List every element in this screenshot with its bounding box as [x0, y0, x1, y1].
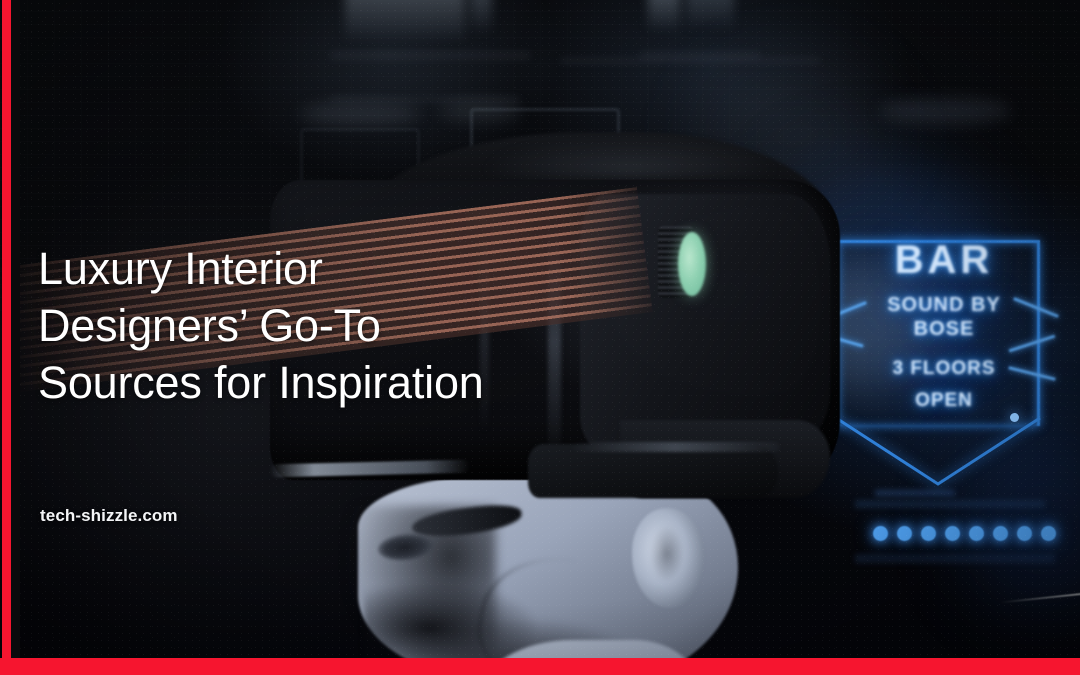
headline-line-3: Sources for Inspiration	[38, 354, 638, 411]
bottom-accent-bar	[0, 658, 1080, 675]
headline-line-1: Luxury Interior	[38, 240, 638, 297]
site-url-label: tech-shizzle.com	[40, 506, 178, 526]
left-accent-bar	[2, 0, 11, 675]
text-overlay: Luxury Interior Designers’ Go-To Sources…	[0, 0, 1080, 675]
page-title: Luxury Interior Designers’ Go-To Sources…	[38, 240, 638, 411]
left-inner-gap	[11, 0, 20, 675]
banner-canvas: BAR SOUND BY BOSE 3 FLOORS OPEN	[0, 0, 1080, 675]
headline-line-2: Designers’ Go-To	[38, 297, 638, 354]
